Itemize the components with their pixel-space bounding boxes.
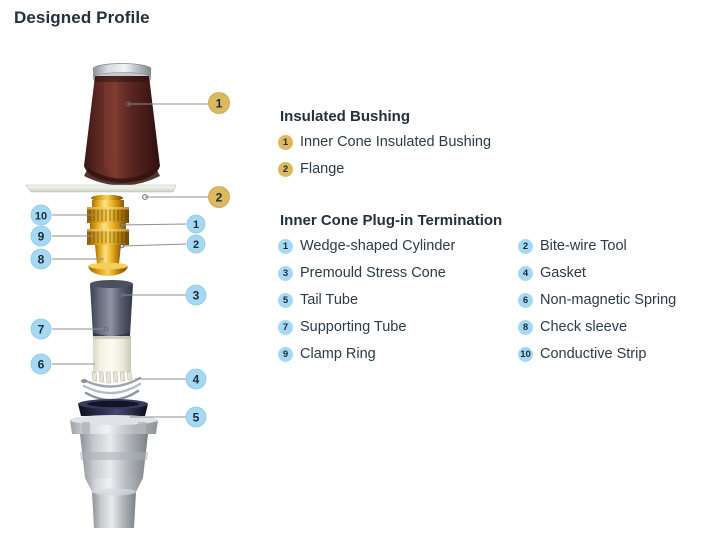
legend-badge: 1: [278, 239, 293, 254]
legend-label: Supporting Tube: [300, 319, 406, 335]
legend-label: Check sleeve: [540, 319, 627, 335]
legend-badge: 8: [518, 320, 533, 335]
supporting-tube: [92, 336, 132, 383]
legend-item[interactable]: 1 Inner Cone Insulated Bushing: [278, 134, 718, 150]
callout-badge-2-gold: 2: [209, 187, 230, 208]
clamp-assembly: [87, 200, 129, 264]
legend-badge: 1: [278, 135, 293, 150]
legend-label: Non-magnetic Spring: [540, 292, 676, 308]
legend-item[interactable]: 6 Non-magnetic Spring: [518, 292, 718, 308]
spring-end: [81, 379, 87, 383]
legend-badge: 9: [278, 347, 293, 362]
callout-badge-2-blue: 2: [187, 235, 205, 253]
svg-text:9: 9: [38, 230, 45, 244]
legend-list-insulated-bushing: 1 Inner Cone Insulated Bushing 2 Flange: [278, 134, 718, 188]
callout-badge-4: 4: [186, 369, 206, 389]
legend-item[interactable]: 5 Tail Tube: [278, 292, 518, 308]
legend-badge: 3: [278, 266, 293, 281]
legend-item[interactable]: 4 Gasket: [518, 265, 718, 281]
legend-section-insulated-bushing: Insulated Bushing 1 Inner Cone Insulated…: [278, 108, 718, 188]
legend-panel: Insulated Bushing 1 Inner Cone Insulated…: [278, 108, 718, 373]
svg-text:1: 1: [193, 219, 199, 231]
legend-item[interactable]: 9 Clamp Ring: [278, 346, 518, 362]
legend-section-title: Inner Cone Plug-in Termination: [280, 212, 718, 229]
page-title: Designed Profile: [14, 8, 150, 28]
designed-profile-diagram: 1 2 10 9 8 7 6 1 2 3 4 5: [0, 48, 262, 528]
legend-badge: 5: [278, 293, 293, 308]
legend-item[interactable]: 1 Wedge-shaped Cylinder: [278, 238, 518, 254]
legend-badge: 10: [518, 347, 533, 362]
legend-item[interactable]: 3 Premould Stress Cone: [278, 265, 518, 281]
legend-item[interactable]: 8 Check sleeve: [518, 319, 718, 335]
callout-badge-9: 9: [31, 226, 51, 246]
legend-label: Bite-wire Tool: [540, 238, 627, 254]
callout-badge-7: 7: [31, 319, 51, 339]
legend-item[interactable]: 10 Conductive Strip: [518, 346, 718, 362]
legend-label: Wedge-shaped Cylinder: [300, 238, 455, 254]
legend-section-inner-cone-termination: Inner Cone Plug-in Termination 1 Wedge-s…: [278, 212, 718, 373]
legend-badge: 2: [518, 239, 533, 254]
clamp-ring-lower: [87, 229, 129, 245]
callout-badge-3: 3: [186, 285, 206, 305]
svg-text:2: 2: [193, 239, 199, 251]
callout-badge-6: 6: [31, 354, 51, 374]
callout-badge-1-gold: 1: [209, 93, 230, 114]
svg-text:2: 2: [216, 191, 223, 205]
legend-label: Tail Tube: [300, 292, 358, 308]
insulated-bushing: [84, 76, 160, 186]
legend-section-title: Insulated Bushing: [280, 108, 718, 125]
legend-badge: 7: [278, 320, 293, 335]
wedge-cylinder: [95, 245, 121, 264]
svg-text:3: 3: [193, 289, 200, 303]
svg-text:5: 5: [193, 411, 200, 425]
legend-label: Conductive Strip: [540, 346, 646, 362]
check-sleeve: [88, 263, 128, 276]
svg-text:4: 4: [193, 373, 200, 387]
legend-label: Inner Cone Insulated Bushing: [300, 134, 491, 150]
legend-item[interactable]: 2 Bite-wire Tool: [518, 238, 718, 254]
section-spacer: [278, 188, 718, 212]
callout-badge-8: 8: [31, 249, 51, 269]
callout-badge-1-blue: 1: [187, 215, 205, 233]
callout-badge-5: 5: [186, 407, 206, 427]
flange-plate: [26, 185, 176, 192]
svg-text:10: 10: [35, 211, 47, 223]
tail-tube: [70, 415, 158, 528]
svg-text:8: 8: [38, 253, 45, 267]
svg-text:6: 6: [38, 358, 45, 372]
gasket: [78, 399, 148, 416]
legend-item[interactable]: 2 Flange: [278, 161, 718, 177]
legend-list-inner-cone-termination: 1 Wedge-shaped Cylinder 2 Bite-wire Tool…: [278, 238, 718, 373]
legend-badge: 2: [278, 162, 293, 177]
svg-text:1: 1: [216, 97, 223, 111]
legend-badge: 6: [518, 293, 533, 308]
svg-text:7: 7: [38, 323, 45, 337]
callout-badge-10: 10: [31, 205, 51, 225]
spring: [84, 378, 140, 400]
legend-badge: 4: [518, 266, 533, 281]
legend-label: Premould Stress Cone: [300, 265, 446, 281]
legend-label: Gasket: [540, 265, 586, 281]
legend-label: Flange: [300, 161, 344, 177]
stress-cone: [90, 280, 133, 336]
legend-label: Clamp Ring: [300, 346, 376, 362]
legend-item[interactable]: 7 Supporting Tube: [278, 319, 518, 335]
